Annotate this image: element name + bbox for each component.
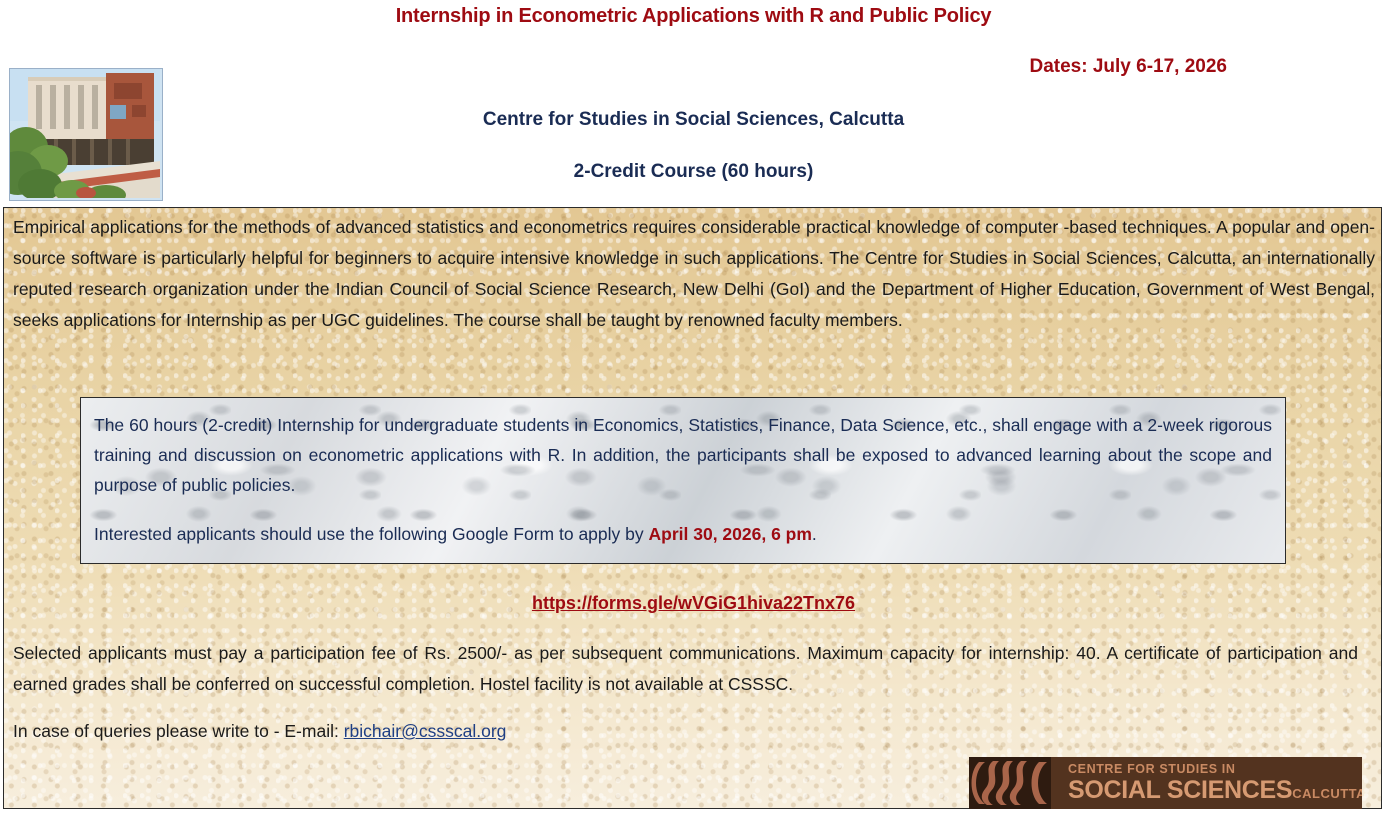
contact-email-link[interactable]: rbichair@cssscal.org: [344, 721, 507, 741]
apply-suffix: .: [812, 524, 817, 544]
intro-paragraph: Empirical applications for the methods o…: [13, 212, 1375, 336]
fee-paragraph: Selected applicants must pay a participa…: [13, 638, 1358, 700]
csssc-logo: CENTRE FOR STUDIES IN SOCIAL SCIENCESCAL…: [969, 757, 1362, 809]
csssc-monogram-icon: [969, 757, 1055, 809]
organization-name: Centre for Studies in Social Sciences, C…: [0, 109, 1387, 131]
logo-calcutta: CALCUTTA: [1292, 786, 1362, 801]
page-title: Internship in Econometric Applications w…: [0, 5, 1387, 28]
logo-social-sciences: SOCIAL SCIENCES: [1068, 776, 1292, 804]
queries-prefix: In case of queries please write to - E-m…: [13, 721, 344, 741]
apply-prefix: Interested applicants should use the fol…: [94, 524, 649, 544]
google-form-link[interactable]: https://forms.gle/wVGiG1hiva22Tnx76: [532, 593, 855, 613]
poster-header: Internship in Econometric Applications w…: [0, 0, 1387, 207]
form-link-row: https://forms.gle/wVGiG1hiva22Tnx76: [4, 593, 1382, 614]
dates-line: Dates: July 6-17, 2026: [1029, 56, 1227, 78]
logo-wordmark: CENTRE FOR STUDIES IN SOCIAL SCIENCESCAL…: [1055, 763, 1362, 803]
highlight-box: The 60 hours (2-credit) Internship for u…: [80, 397, 1286, 564]
poster-body: Empirical applications for the methods o…: [3, 207, 1382, 809]
course-credit-line: 2-Credit Course (60 hours): [0, 161, 1387, 183]
logo-line-2: SOCIAL SCIENCESCALCUTTA: [1068, 778, 1362, 803]
apply-instruction: Interested applicants should use the fol…: [94, 519, 1272, 549]
logo-line-1: CENTRE FOR STUDIES IN: [1068, 763, 1362, 776]
queries-paragraph: In case of queries please write to - E-m…: [13, 716, 1013, 747]
apply-deadline: April 30, 2026, 6 pm: [649, 524, 812, 544]
highlight-paragraph: The 60 hours (2-credit) Internship for u…: [94, 410, 1272, 500]
